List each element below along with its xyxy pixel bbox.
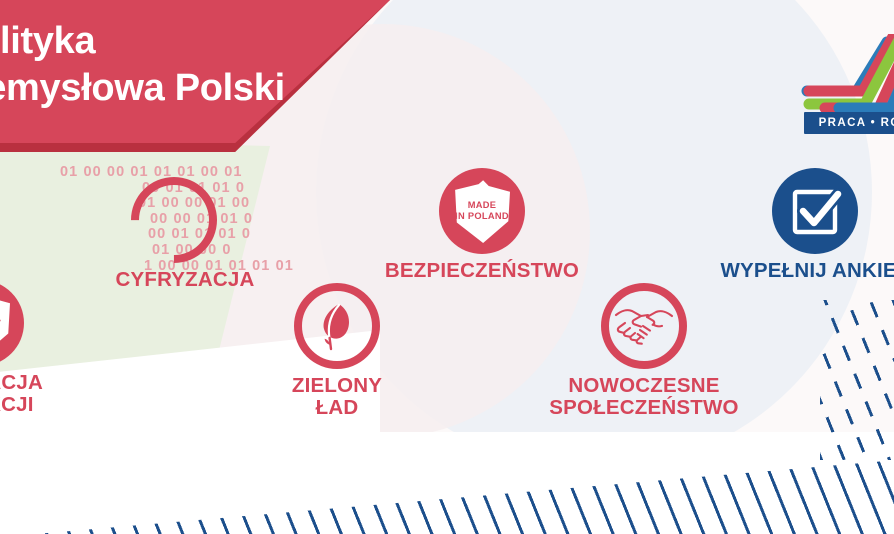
pillar-label-line-1: WYPEŁNIJ ANKIET	[700, 260, 894, 282]
pillar-label: ZIELONY ŁAD	[262, 375, 412, 419]
pillar-label-line-1: ALIZACJA	[0, 372, 128, 394]
handshake-icon	[613, 303, 675, 349]
ring-outline	[294, 283, 380, 369]
page-title: Polityka rzemysłowa Polski	[0, 18, 372, 112]
made-in-poland-badge-icon: MADE IN POLAND	[439, 168, 525, 254]
pillar-label-line-2: ŁAD	[262, 397, 412, 419]
badge-line-2: IN POLAND	[455, 211, 509, 222]
logo-caption: PRACA • ROZW	[815, 117, 894, 129]
pillar-cyfryzacja[interactable]: 01 00 00 01 01 01 00 01 00 01 01 01 0 01…	[60, 165, 310, 291]
binary-code-ring-icon: 01 00 00 01 01 01 00 01 00 01 01 01 0 01…	[60, 165, 310, 263]
logo-stripes-icon	[795, 34, 894, 114]
page-title-line-2: rzemysłowa Polski	[0, 65, 372, 112]
pillar-lokalizacja-produkcji[interactable]: ALIZACJA ODUKCJI	[0, 280, 128, 416]
survey-cta[interactable]: WYPEŁNIJ ANKIET	[700, 168, 894, 282]
ring-outline	[601, 283, 687, 369]
pillar-label: BEZPIECZEŃSTWO	[378, 260, 586, 282]
pillar-label: ALIZACJA ODUKCJI	[0, 372, 128, 416]
banner-graphic: Polityka rzemysłowa Polski PRACA • ROZW	[0, 0, 894, 534]
pillar-label-line-2: SPOŁECZEŃSTWO	[528, 397, 760, 419]
poland-shape-icon	[0, 290, 10, 356]
lightbulb-icon	[0, 301, 1, 343]
survey-cta-label: WYPEŁNIJ ANKIET	[700, 260, 894, 282]
pillar-label-line-1: BEZPIECZEŃSTWO	[378, 260, 586, 282]
pillar-label-line-1: NOWOCZESNE	[528, 375, 760, 397]
pillar-nowoczesne-spoleczenstwo[interactable]: NOWOCZESNE SPOŁECZEŃSTWO	[528, 283, 760, 419]
lightbulb-in-poland-shape-icon	[0, 280, 24, 366]
checkmark-box-icon	[772, 168, 858, 254]
pillar-bezpieczenstwo[interactable]: MADE IN POLAND BEZPIECZEŃSTWO	[378, 168, 586, 282]
diagonal-stripes-right	[820, 300, 894, 460]
pillar-label-line-2: ODUKCJI	[0, 394, 128, 416]
checkbox-checked-icon[interactable]	[772, 168, 858, 254]
logo-caption-bar: PRACA • ROZW	[804, 112, 894, 134]
logo[interactable]: PRACA • ROZW	[795, 34, 894, 139]
pillar-label-line-1: ZIELONY	[262, 375, 412, 397]
page-title-line-1: Polityka	[0, 18, 372, 65]
poland-shape-icon: MADE IN POLAND	[454, 179, 510, 243]
leaf-icon	[314, 301, 360, 351]
pillar-label: NOWOCZESNE SPOŁECZEŃSTWO	[528, 375, 760, 419]
badge-line-1: MADE	[468, 200, 497, 211]
pillar-zielony-lad[interactable]: ZIELONY ŁAD	[262, 283, 412, 419]
